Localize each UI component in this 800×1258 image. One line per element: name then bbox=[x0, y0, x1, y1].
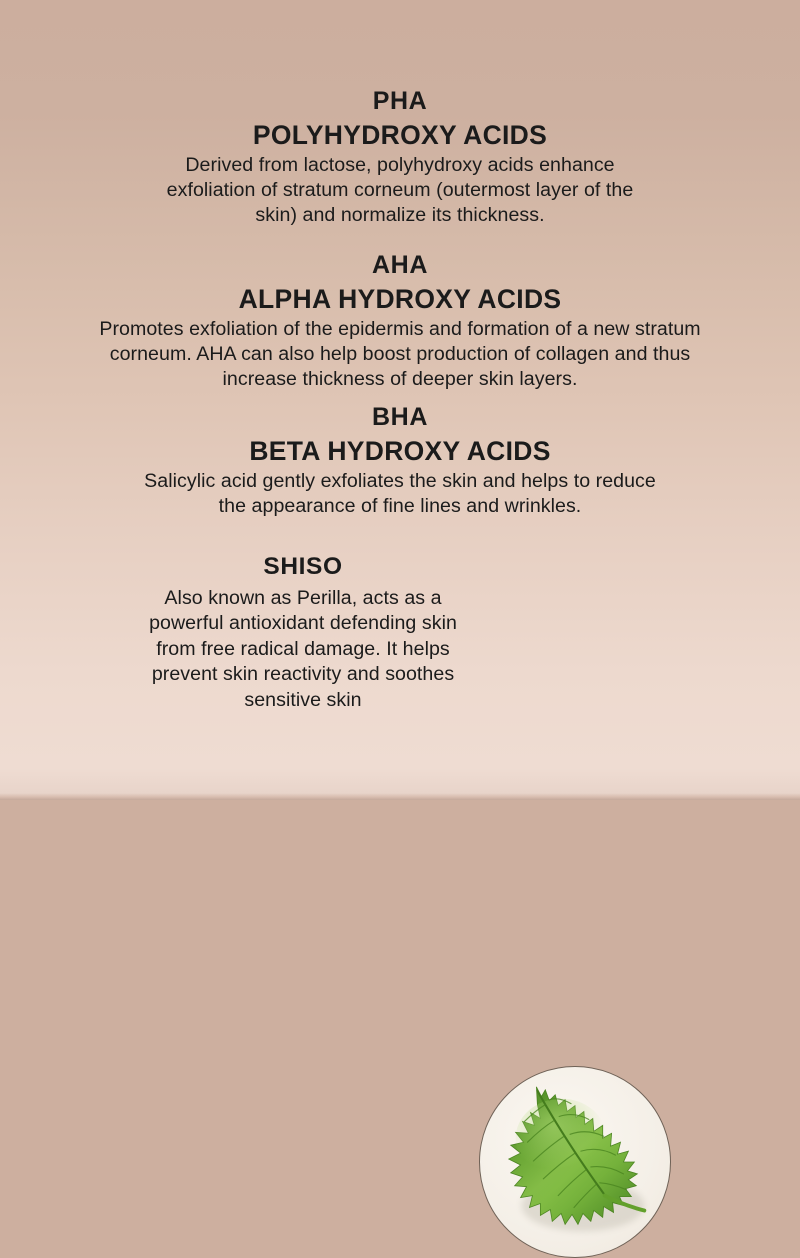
ingredient-block-shiso: SHISO Also known as Perilla, acts as a p… bbox=[0, 528, 800, 758]
ingredient-description-aha: Promotes exfoliation of the epidermis an… bbox=[93, 317, 707, 393]
ingredient-block-pha: PHA POLYHYDROXY ACIDS Derived from lacto… bbox=[0, 88, 800, 229]
ingredient-abbr-bha: BHA bbox=[0, 404, 800, 432]
leaf-icon bbox=[480, 1067, 670, 1257]
ingredient-block-aha: AHA ALPHA HYDROXY ACIDS Promotes exfolia… bbox=[0, 252, 800, 393]
shiso-leaf-photo bbox=[479, 1066, 671, 1258]
bottom-edge-band bbox=[0, 793, 800, 800]
ingredient-description-bha: Salicylic acid gently exfoliates the ski… bbox=[142, 469, 658, 520]
ingredient-full-name-aha: ALPHA HYDROXY ACIDS bbox=[0, 283, 800, 315]
ingredient-block-bha: BHA BETA HYDROXY ACIDS Salicylic acid ge… bbox=[0, 404, 800, 519]
ingredient-description-pha: Derived from lactose, polyhydroxy acids … bbox=[150, 153, 650, 229]
ingredient-full-name-bha: BETA HYDROXY ACIDS bbox=[0, 435, 800, 467]
ingredient-infographic: PHA POLYHYDROXY ACIDS Derived from lacto… bbox=[0, 0, 800, 800]
ingredient-description-shiso: Also known as Perilla, acts as a powerfu… bbox=[143, 586, 463, 713]
shiso-text-column: SHISO Also known as Perilla, acts as a p… bbox=[138, 554, 468, 713]
ingredient-abbr-shiso: SHISO bbox=[138, 554, 468, 581]
ingredient-full-name-pha: POLYHYDROXY ACIDS bbox=[0, 119, 800, 151]
ingredient-abbr-pha: PHA bbox=[0, 88, 800, 116]
ingredient-abbr-aha: AHA bbox=[0, 252, 800, 280]
